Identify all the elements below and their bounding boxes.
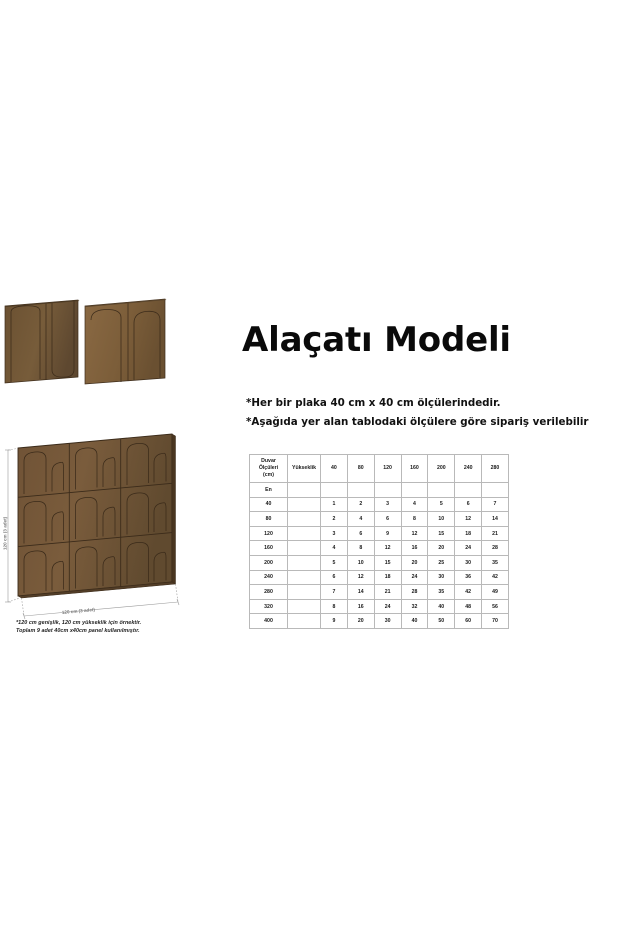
- cell-value: 42: [455, 585, 482, 600]
- cell-height: [288, 555, 321, 570]
- cell-value: 32: [401, 599, 428, 614]
- corner-line-3: (cm): [250, 472, 287, 479]
- size-table: Duvar Ölçüleri (cm) Yükseklik 40 80 120 …: [249, 454, 509, 629]
- wall-assembly-svg: 120 cm (3 adet) 120 cm (3 adet): [0, 430, 205, 640]
- cell-en-5: [401, 483, 428, 498]
- cell-value: 21: [374, 585, 401, 600]
- header-width-80: 80: [347, 455, 374, 483]
- row-label: 280: [250, 585, 288, 600]
- cell-value: 6: [374, 512, 401, 527]
- cell-value: 4: [321, 541, 348, 556]
- cell-height: [288, 614, 321, 629]
- cell-en-6: [428, 483, 455, 498]
- panel-samples-svg: [0, 290, 200, 390]
- cell-value: 16: [347, 599, 374, 614]
- cell-en-8: [482, 483, 509, 498]
- cell-en-7: [455, 483, 482, 498]
- row-label: 160: [250, 541, 288, 556]
- table-row: 80 2 4 6 8 10 12 14: [250, 512, 509, 527]
- cell-value: 12: [455, 512, 482, 527]
- cell-value: 9: [374, 526, 401, 541]
- cell-value: 9: [321, 614, 348, 629]
- table-row: 400 9 20 30 40 50 60 70: [250, 614, 509, 629]
- cell-value: 12: [347, 570, 374, 585]
- cell-value: 20: [347, 614, 374, 629]
- cell-value: 24: [401, 570, 428, 585]
- page-title: Alaçatı Modeli: [242, 320, 608, 360]
- figure-caption-line-1: *120 cm genişlik, 120 cm yükseklik için …: [16, 619, 206, 627]
- cell-value: 7: [482, 497, 509, 512]
- cell-value: 15: [428, 526, 455, 541]
- size-table-header-row: Duvar Ölçüleri (cm) Yükseklik 40 80 120 …: [250, 455, 509, 483]
- row-label: 80: [250, 512, 288, 527]
- table-row: 320 8 16 24 32 40 48 56: [250, 599, 509, 614]
- cell-value: 48: [455, 599, 482, 614]
- cell-value: 6: [455, 497, 482, 512]
- wall-assembly-figure: 120 cm (3 adet) 120 cm (3 adet): [0, 430, 205, 640]
- cell-height: [288, 599, 321, 614]
- cell-value: 18: [374, 570, 401, 585]
- description-line-2: *Aşağıda yer alan tablodaki ölçülere gör…: [246, 413, 608, 432]
- cell-en-2: [321, 483, 348, 498]
- size-table-body: En 40 1 2 3: [250, 483, 509, 629]
- cell-value: 8: [347, 541, 374, 556]
- cell-height: [288, 570, 321, 585]
- cell-value: 15: [374, 555, 401, 570]
- cell-value: 10: [428, 512, 455, 527]
- cell-value: 20: [401, 555, 428, 570]
- row-label-en: En: [250, 483, 288, 498]
- table-row: 240 6 12 18 24 30 36 42: [250, 570, 509, 585]
- cell-height: [288, 541, 321, 556]
- header-height: Yükseklik: [288, 455, 321, 483]
- table-row: 120 3 6 9 12 15 18 21: [250, 526, 509, 541]
- cell-value: 25: [428, 555, 455, 570]
- row-label: 400: [250, 614, 288, 629]
- cell-value: 6: [321, 570, 348, 585]
- cell-value: 40: [401, 614, 428, 629]
- row-label: 40: [250, 497, 288, 512]
- header-width-240: 240: [455, 455, 482, 483]
- cell-value: 14: [347, 585, 374, 600]
- panel-sample-left: [5, 300, 80, 383]
- cell-value: 30: [455, 555, 482, 570]
- table-corner-label: Duvar Ölçüleri (cm): [250, 455, 288, 483]
- cell-value: 2: [321, 512, 348, 527]
- header-width-280: 280: [482, 455, 509, 483]
- cell-value: 28: [401, 585, 428, 600]
- description-list: *Her bir plaka 40 cm x 40 cm ölçülerinde…: [246, 394, 608, 432]
- cell-value: 12: [401, 526, 428, 541]
- size-table-head: Duvar Ölçüleri (cm) Yükseklik 40 80 120 …: [250, 455, 509, 483]
- cell-value: 30: [374, 614, 401, 629]
- wall-panel-grid: [18, 434, 176, 598]
- size-table-wrapper: Duvar Ölçüleri (cm) Yükseklik 40 80 120 …: [249, 454, 508, 629]
- cell-value: 35: [428, 585, 455, 600]
- cell-value: 14: [482, 512, 509, 527]
- cell-value: 35: [482, 555, 509, 570]
- cell-value: 8: [321, 599, 348, 614]
- header-width-160: 160: [401, 455, 428, 483]
- table-row: 280 7 14 21 28 35 42 49: [250, 585, 509, 600]
- cell-height: [288, 497, 321, 512]
- corner-line-1: Duvar: [250, 458, 287, 465]
- cell-value: 2: [347, 497, 374, 512]
- panel-sample-right: [85, 299, 167, 384]
- cell-value: 7: [321, 585, 348, 600]
- cell-value: 16: [401, 541, 428, 556]
- row-label: 240: [250, 570, 288, 585]
- cell-en-1: [288, 483, 321, 498]
- cell-value: 4: [401, 497, 428, 512]
- cell-value: 24: [374, 599, 401, 614]
- figure-caption-line-2: Toplam 9 adet 40cm x40cm panel kullanılm…: [16, 627, 206, 635]
- cell-value: 60: [455, 614, 482, 629]
- figure-caption: *120 cm genişlik, 120 cm yükseklik için …: [16, 619, 206, 635]
- cell-value: 49: [482, 585, 509, 600]
- row-label: 200: [250, 555, 288, 570]
- row-label: 320: [250, 599, 288, 614]
- cell-value: 5: [428, 497, 455, 512]
- header-width-40: 40: [321, 455, 348, 483]
- cell-value: 42: [482, 570, 509, 585]
- cell-value: 18: [455, 526, 482, 541]
- cell-value: 12: [374, 541, 401, 556]
- cell-value: 5: [321, 555, 348, 570]
- cell-value: 36: [455, 570, 482, 585]
- panel-sample-pair: [0, 290, 200, 390]
- cell-height: [288, 526, 321, 541]
- illustration-column: 120 cm (3 adet) 120 cm (3 adet) *120 cm …: [0, 290, 215, 650]
- table-row: 40 1 2 3 4 5 6 7: [250, 497, 509, 512]
- cell-value: 50: [428, 614, 455, 629]
- cell-value: 24: [455, 541, 482, 556]
- table-row-en: En: [250, 483, 509, 498]
- cell-value: 28: [482, 541, 509, 556]
- cell-value: 4: [347, 512, 374, 527]
- cell-value: 3: [374, 497, 401, 512]
- description-line-1: *Her bir plaka 40 cm x 40 cm ölçülerinde…: [246, 394, 608, 413]
- table-row: 200 5 10 15 20 25 30 35: [250, 555, 509, 570]
- cell-en-3: [347, 483, 374, 498]
- cell-value: 6: [347, 526, 374, 541]
- cell-height: [288, 585, 321, 600]
- header-width-120: 120: [374, 455, 401, 483]
- content-column: Alaçatı Modeli *Her bir plaka 40 cm x 40…: [236, 320, 608, 629]
- table-row: 160 4 8 12 16 20 24 28: [250, 541, 509, 556]
- cell-value: 10: [347, 555, 374, 570]
- page-canvas: 120 cm (3 adet) 120 cm (3 adet) *120 cm …: [0, 0, 621, 931]
- height-dimension-label: 120 cm (3 adet): [3, 516, 8, 550]
- cell-en-4: [374, 483, 401, 498]
- corner-line-2: Ölçüleri: [250, 465, 287, 472]
- cell-value: 70: [482, 614, 509, 629]
- cell-height: [288, 512, 321, 527]
- cell-value: 8: [401, 512, 428, 527]
- header-width-200: 200: [428, 455, 455, 483]
- cell-value: 30: [428, 570, 455, 585]
- cell-value: 56: [482, 599, 509, 614]
- cell-value: 1: [321, 497, 348, 512]
- cell-value: 20: [428, 541, 455, 556]
- cell-value: 3: [321, 526, 348, 541]
- cell-value: 40: [428, 599, 455, 614]
- cell-value: 21: [482, 526, 509, 541]
- row-label: 120: [250, 526, 288, 541]
- width-dimension-label: 120 cm (3 adet): [62, 607, 96, 615]
